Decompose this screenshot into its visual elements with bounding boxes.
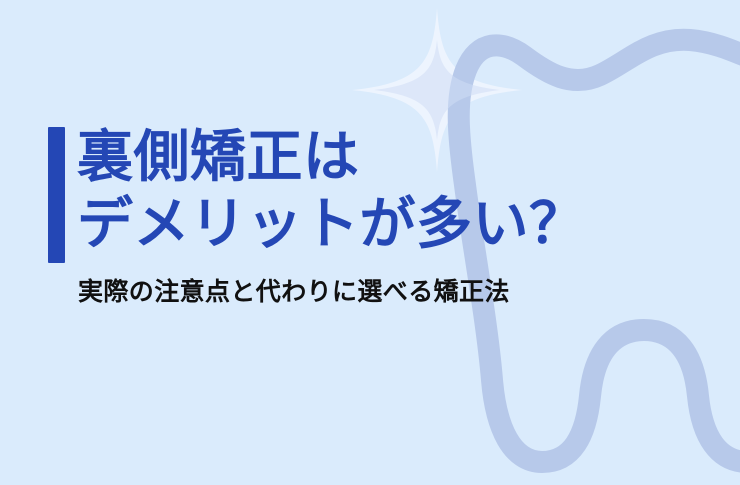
headline-line-2: デメリットが多い？: [77, 196, 586, 252]
article-thumbnail-banner: 裏側矯正は デメリットが多い？ 実際の注意点と代わりに選べる矯正法: [0, 0, 740, 485]
subheadline-text: 実際の注意点と代わりに選べる矯正法: [78, 277, 510, 307]
text-content-block: 裏側矯正は デメリットが多い？ 実際の注意点と代わりに選べる矯正法: [0, 0, 740, 485]
headline-line-1: 裏側矯正は: [77, 129, 360, 185]
vertical-accent-bar: [48, 127, 65, 263]
